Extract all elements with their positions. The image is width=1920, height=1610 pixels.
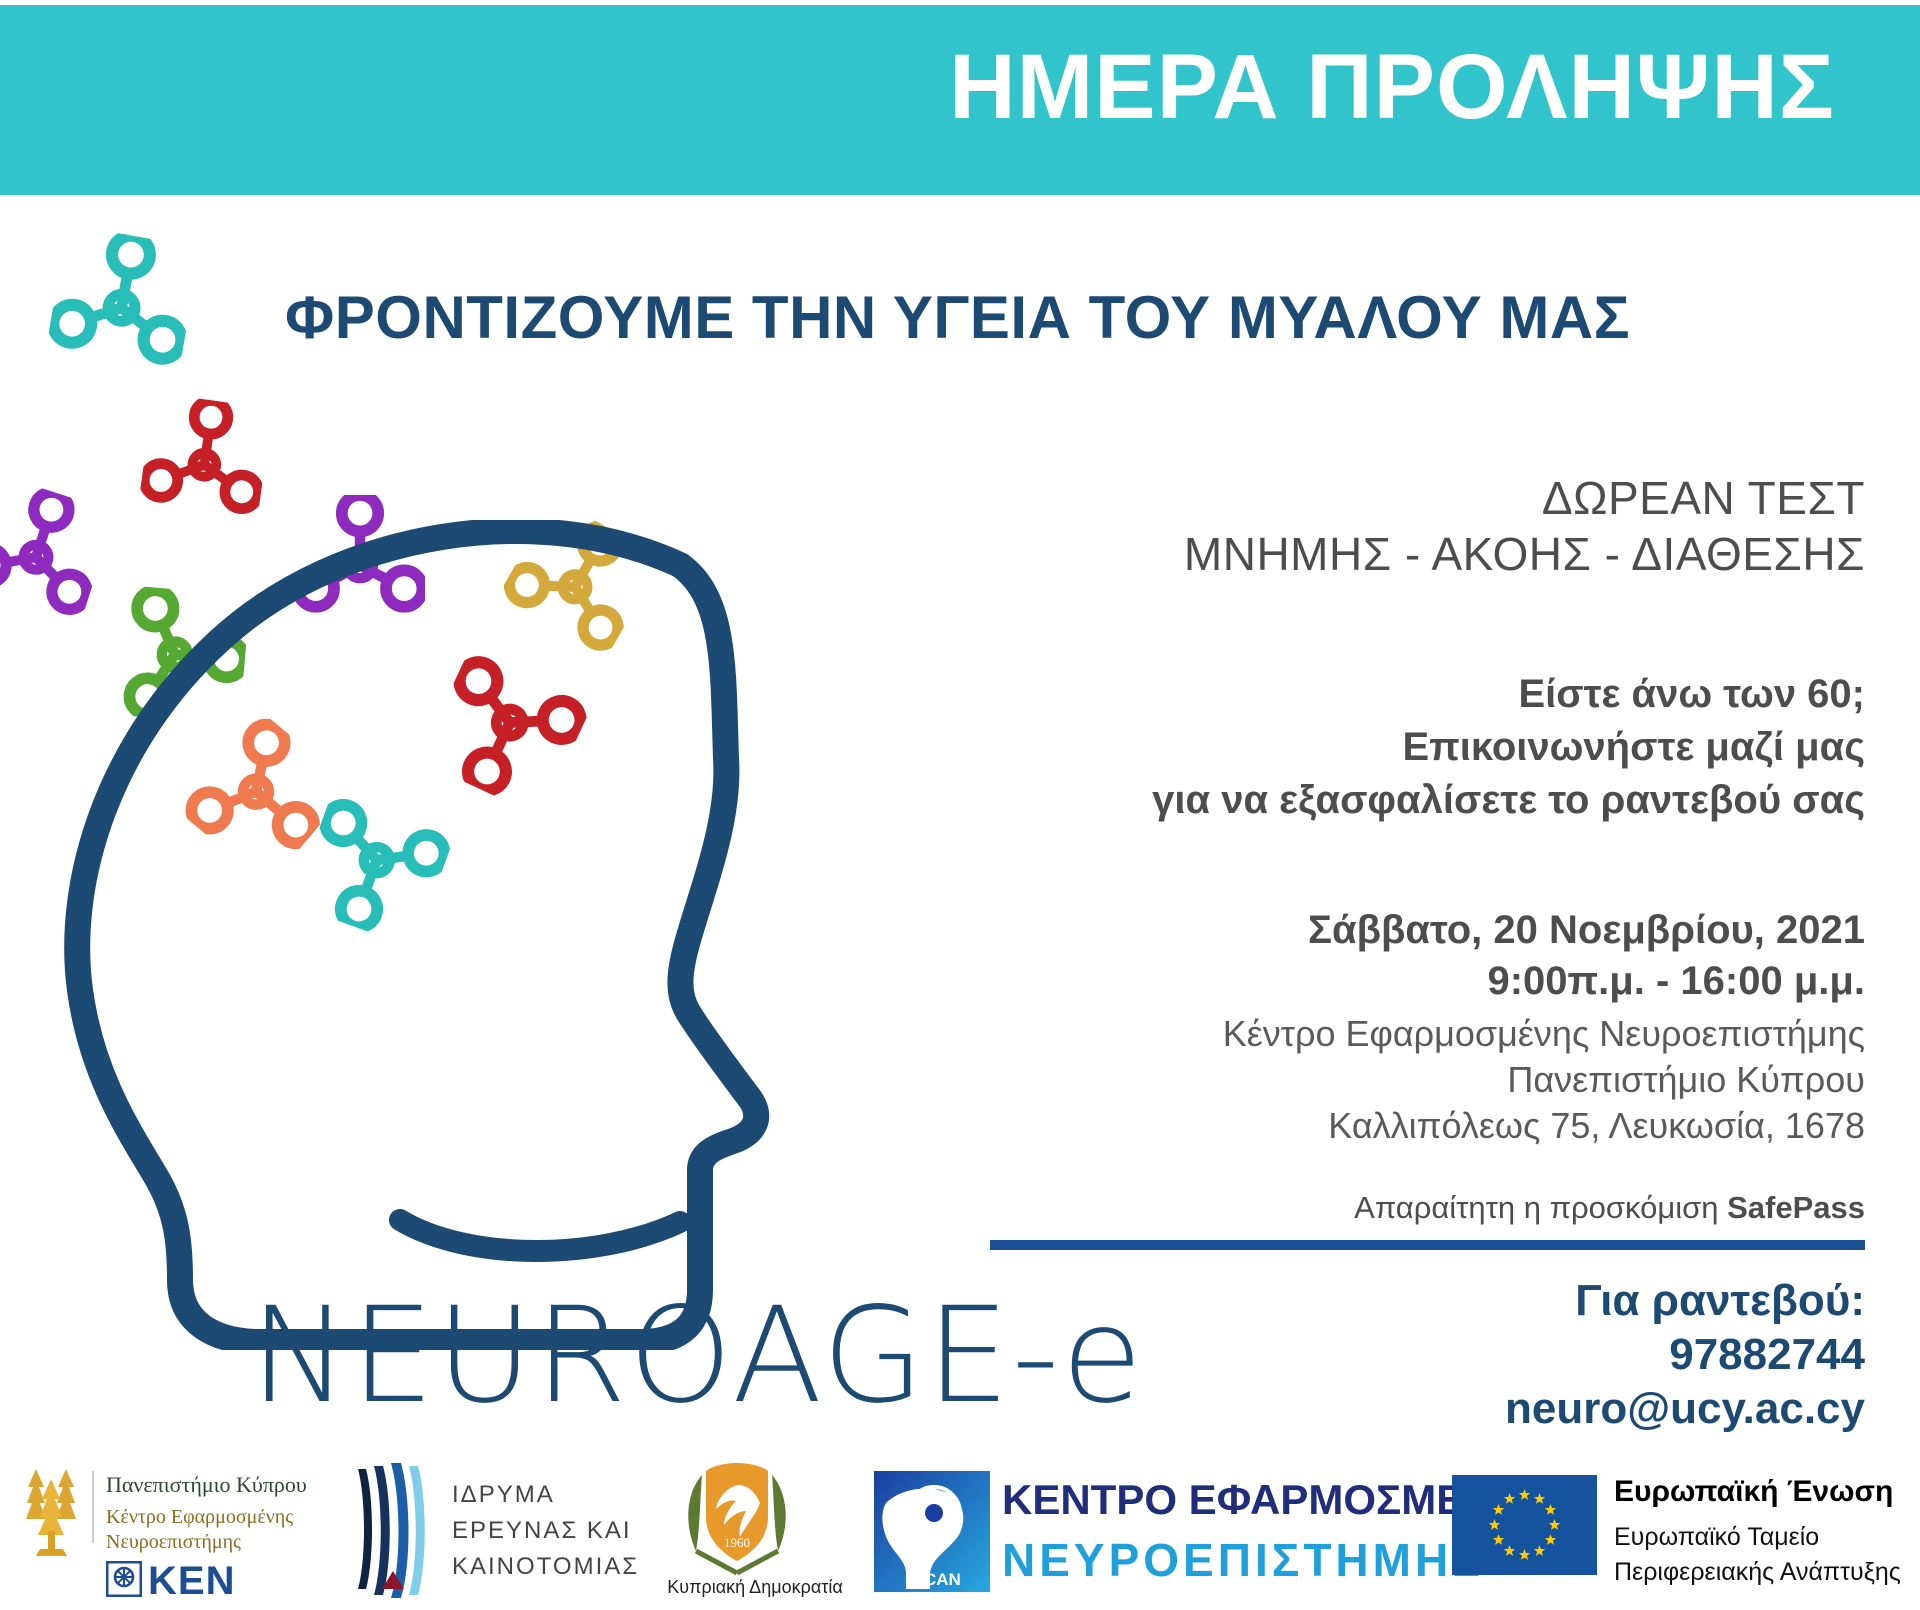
venue-line-1: Κέντρο Εφαρμοσμένης Νευροεπιστήμης [960,1011,1865,1057]
cyprus-caption: Κυπριακή Δημοκρατία [660,1577,850,1598]
contact-email[interactable]: neuro@ucy.ac.cy [960,1382,1865,1436]
safepass-notice: Απαραίτητη η προσκόμιση SafePass [960,1189,1865,1226]
university-of-cyprus-logo: Πανεπιστήμιο Κύπρου Κέντρο Εφαρμοσμένης … [22,1463,322,1603]
venue-line-2: Πανεπιστήμιο Κύπρου [960,1057,1865,1103]
ucy-logo-divider [92,1471,94,1543]
footer-logo-strip: Πανεπιστήμιο Κύπρου Κέντρο Εφαρμοσμένης … [0,1455,1920,1610]
cyprus-coat-of-arms-icon: 1960 [672,1459,802,1577]
headline: ΦΡΟΝΤΙΖΟΥΜΕ ΤΗΝ ΥΓΕΙΑ ΤΟΥ ΜΥΑΛΟΥ ΜΑΣ [285,288,1630,348]
invitation-block: Είστε άνω των 60; Επικοινωνήστε μαζί μας… [960,668,1865,826]
event-date: Σάββατο, 20 Νοεμβρίου, 2021 [960,905,1865,956]
event-venue-block: Κέντρο Εφαρμοσμένης Νευροεπιστήμης Πανεπ… [960,1011,1865,1149]
research-innovation-foundation-logo: ΙΔΡΥΜΑ ΕΡΕΥΝΑΣ ΚΑΙ ΚΑΙΝΟΤΟΜΙΑΣ [352,1463,642,1603]
can-head-network-icon: CAN [872,1469,992,1594]
free-tests-block: ΔΩΡΕΑΝ ΤΕΣΤ ΜΝΗΜΗΣ - ΑΚΟΗΣ - ΔΙΑΘΕΣΗΣ [960,470,1865,582]
ucy-subtitle-line-2: Νευροεπιστήμης [106,1530,241,1555]
eu-subtitle-line-1: Ευρωπαϊκό Ταμείο [1614,1521,1819,1555]
contact-block: Για ραντεβού: 97882744 neuro@ucy.ac.cy [960,1274,1865,1435]
contact-label: Για ραντεβού: [960,1274,1865,1328]
rif-line-2: ΕΡΕΥΝΑΣ ΚΑΙ [452,1513,632,1549]
head-profile-illustration [40,520,940,1350]
ucy-title: Πανεπιστήμιο Κύπρου [106,1473,307,1497]
safepass-notice-prefix: Απαραίτητη η προσκόμιση [1354,1190,1727,1225]
header-band: ΗΜΕΡΑ ΠΡΟΛΗΨΗΣ [0,5,1920,195]
european-union-logo: Ευρωπαϊκή Ένωση Ευρωπαϊκό Ταμείο Περιφερ… [1452,1469,1902,1594]
molecule-red-1-icon [137,392,273,528]
ucy-tree-emblem-icon [22,1465,84,1557]
eu-flag-icon [1452,1475,1597,1575]
ken-wordmark: KEN [148,1561,235,1601]
rif-line-3: ΚΑΙΝΟΤΟΜΙΑΣ [452,1549,639,1585]
eu-subtitle-line-2: Περιφερειακής Ανάπτυξης [1614,1556,1901,1590]
poster-canvas: ΗΜΕΡΑ ΠΡΟΛΗΨΗΣ ΦΡΟΝΤΙΖΟΥΜΕ ΤΗΝ ΥΓΕΙΑ ΤΟΥ… [0,0,1920,1610]
invitation-line-3: για να εξασφαλίσετε το ραντεβού σας [960,774,1865,827]
can-line-2: ΝΕΥΡΟΕΠΙΣΤΗΜΗΣ [1002,1537,1484,1583]
ucy-subtitle-line-1: Κέντρο Εφαρμοσμένης [106,1505,293,1530]
info-column: ΔΩΡΕΑΝ ΤΕΣΤ ΜΝΗΜΗΣ - ΑΚΟΗΣ - ΔΙΑΘΕΣΗΣ Εί… [960,470,1865,1435]
event-datetime-block: Σάββατο, 20 Νοεμβρίου, 2021 9:00π.μ. - 1… [960,905,1865,1007]
can-mark-text: CAN [924,1570,961,1589]
invitation-line-1: Είστε άνω των 60; [960,668,1865,721]
event-time: 9:00π.μ. - 16:00 μ.μ. [960,956,1865,1007]
safepass-label: SafePass [1727,1190,1865,1225]
eu-title: Ευρωπαϊκή Ένωση [1614,1475,1893,1510]
free-tests-line-2: ΜΝΗΜΗΣ - ΑΚΟΗΣ - ΔΙΑΘΕΣΗΣ [960,526,1865,582]
crest-year: 1960 [724,1535,750,1550]
rif-bars-icon [352,1463,438,1598]
ken-brain-icon [106,1561,142,1597]
free-tests-line-1: ΔΩΡΕΑΝ ΤΕΣΤ [960,470,1865,526]
invitation-line-2: Επικοινωνήστε μαζί μας [960,721,1865,774]
venue-line-3: Καλλιπόλεως 75, Λευκωσία, 1678 [960,1103,1865,1149]
republic-of-cyprus-logo: 1960 Κυπριακή Δημοκρατία [660,1459,850,1604]
rif-line-1: ΙΔΡΥΜΑ [452,1477,555,1513]
molecule-teal-1-icon [44,224,200,380]
contact-phone[interactable]: 97882744 [960,1328,1865,1382]
section-divider [990,1240,1865,1250]
center-applied-neuroscience-logo: CAN ΚΕΝΤΡΟ ΕΦΑΡΜΟΣΜΕΝΗΣ ΝΕΥΡΟΕΠΙΣΤΗΜΗΣ [872,1469,1412,1599]
page-title: ΗΜΕΡΑ ΠΡΟΛΗΨΗΣ [949,41,1835,133]
